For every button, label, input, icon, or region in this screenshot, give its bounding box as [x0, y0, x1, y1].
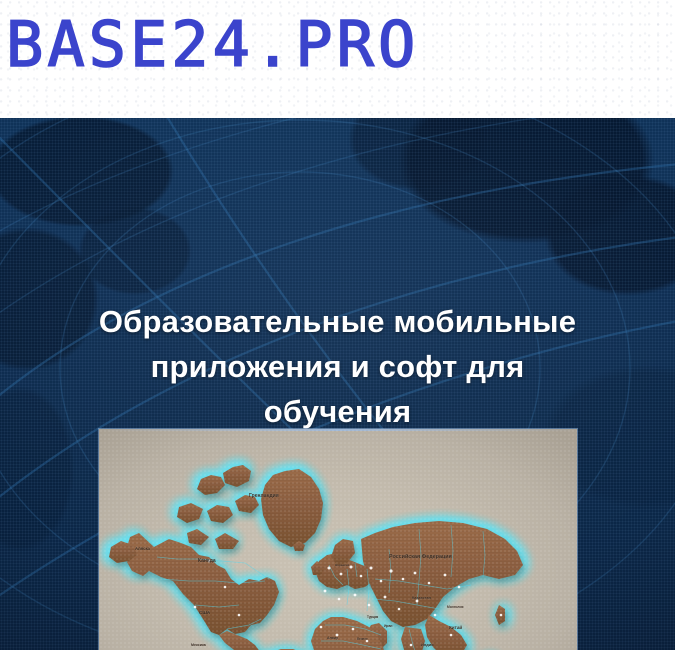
site-header: BASE24.PRO [0, 0, 675, 119]
page-title-line-3: обучения [18, 389, 657, 434]
photo-top-edge-highlight [99, 429, 577, 431]
page-root: BASE24.PRO [0, 0, 675, 650]
world-map-illustration [99, 429, 577, 650]
site-logo[interactable]: BASE24.PRO [6, 14, 419, 76]
page-title-line-1: Образовательные мобильные [18, 299, 657, 344]
page-title-line-2: приложения и софт для [18, 344, 657, 389]
world-map-photo: ГренландияАляскаКанадаСШАМексикаБразилия… [99, 429, 577, 650]
hero-section: Образовательные мобильные приложения и с… [0, 118, 675, 650]
page-title: Образовательные мобильные приложения и с… [0, 299, 675, 434]
